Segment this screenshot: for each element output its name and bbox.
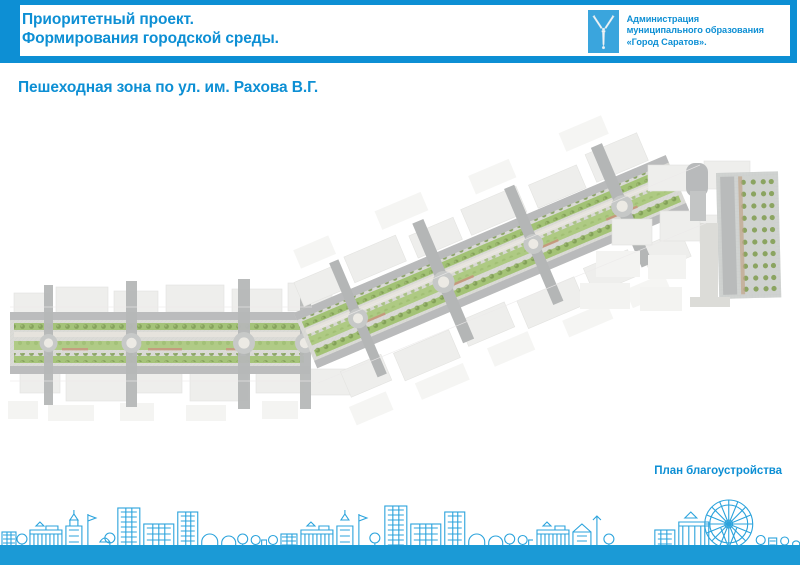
footer-ground-band	[0, 545, 800, 565]
project-subtitle: Пешеходная зона по ул. им. Рахова В.Г.	[18, 79, 318, 97]
administration-logo: Администрация муниципального образования…	[588, 8, 764, 54]
saratov-coat-of-arms-icon	[588, 10, 619, 53]
footer-skyline	[0, 490, 800, 565]
administration-logo-label: Администрация муниципального образования…	[627, 14, 764, 47]
page-title-text: Приоритетный проект. Формирования городс…	[22, 11, 279, 47]
project-subtitle-text: Пешеходная зона по ул. им. Рахова В.Г.	[18, 79, 318, 96]
header-inner-panel: Приоритетный проект. Формирования городс…	[20, 5, 790, 56]
plan-caption-text: План благоустройства	[654, 465, 782, 477]
plan-segment-west	[8, 279, 350, 421]
page-title: Приоритетный проект. Формирования городс…	[22, 10, 542, 48]
site-plan-drawing	[0, 115, 800, 490]
poster-page: Приоритетный проект. Формирования городс…	[0, 0, 800, 565]
plan-caption: План благоустройства	[654, 465, 782, 477]
administration-logo-text: Администрация муниципального образования…	[627, 14, 764, 49]
site-plan-image: План благоустройства	[0, 115, 800, 490]
header-frame: Приоритетный проект. Формирования городс…	[0, 0, 797, 63]
